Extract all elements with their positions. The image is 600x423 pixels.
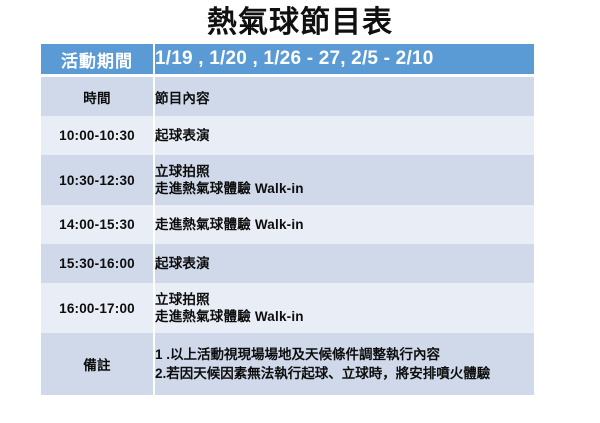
row-time: 16:00-17:00 xyxy=(41,283,155,333)
row-content: 起球表演 xyxy=(155,116,534,155)
row-time: 14:00-15:30 xyxy=(41,205,155,244)
remark-row: 備註 1 .以上活動視現場場地及天候條件調整執行內容 2.若因天候因素無法執行起… xyxy=(41,333,534,395)
table-row: 14:00-15:30 走進熱氣球體驗 Walk-in xyxy=(41,205,534,244)
row-content: 走進熱氣球體驗 Walk-in xyxy=(155,205,534,244)
schedule-table-wrapper: 活動期間 1/19 , 1/20 , 1/26 - 27, 2/5 - 2/10… xyxy=(41,44,534,395)
column-header-row: 時間 節目內容 xyxy=(41,77,534,116)
event-period-dates: 1/19 , 1/20 , 1/26 - 27, 2/5 - 2/10 xyxy=(155,44,534,74)
row-time: 10:00-10:30 xyxy=(41,116,155,155)
schedule-table: 活動期間 1/19 , 1/20 , 1/26 - 27, 2/5 - 2/10… xyxy=(41,44,534,395)
row-content-line: 立球拍照 xyxy=(155,163,534,180)
event-period-label: 活動期間 xyxy=(41,44,155,74)
row-content-line: 立球拍照 xyxy=(155,291,534,308)
row-content: 立球拍照 走進熱氣球體驗 Walk-in xyxy=(155,155,534,205)
remark-label: 備註 xyxy=(41,333,155,395)
column-header-content: 節目內容 xyxy=(155,77,534,116)
row-content-line: 起球表演 xyxy=(155,255,534,272)
row-content-line: 走進熱氣球體驗 Walk-in xyxy=(155,308,534,325)
remark-line: 1 .以上活動視現場場地及天候條件調整執行內容 xyxy=(155,345,534,364)
event-period-header-row: 活動期間 1/19 , 1/20 , 1/26 - 27, 2/5 - 2/10 xyxy=(41,44,534,74)
table-row: 16:00-17:00 立球拍照 走進熱氣球體驗 Walk-in xyxy=(41,283,534,333)
table-row: 10:00-10:30 起球表演 xyxy=(41,116,534,155)
table-row: 15:30-16:00 起球表演 xyxy=(41,244,534,283)
page-title: 熱氣球節目表 xyxy=(0,4,600,42)
schedule-poster: 熱氣球節目表 活動期間 1/19 , 1/20 , 1/26 - 27, 2/5… xyxy=(0,0,600,423)
row-content-line: 走進熱氣球體驗 Walk-in xyxy=(155,216,534,233)
table-row: 10:30-12:30 立球拍照 走進熱氣球體驗 Walk-in xyxy=(41,155,534,205)
row-time: 15:30-16:00 xyxy=(41,244,155,283)
row-content: 立球拍照 走進熱氣球體驗 Walk-in xyxy=(155,283,534,333)
column-header-time: 時間 xyxy=(41,77,155,116)
row-content-line: 走進熱氣球體驗 Walk-in xyxy=(155,180,534,197)
remark-line: 2.若因天候因素無法執行起球、立球時，將安排噴火體驗 xyxy=(155,364,534,383)
row-content-line: 起球表演 xyxy=(155,127,534,144)
remark-content: 1 .以上活動視現場場地及天候條件調整執行內容 2.若因天候因素無法執行起球、立… xyxy=(155,333,534,395)
row-time: 10:30-12:30 xyxy=(41,155,155,205)
row-content: 起球表演 xyxy=(155,244,534,283)
